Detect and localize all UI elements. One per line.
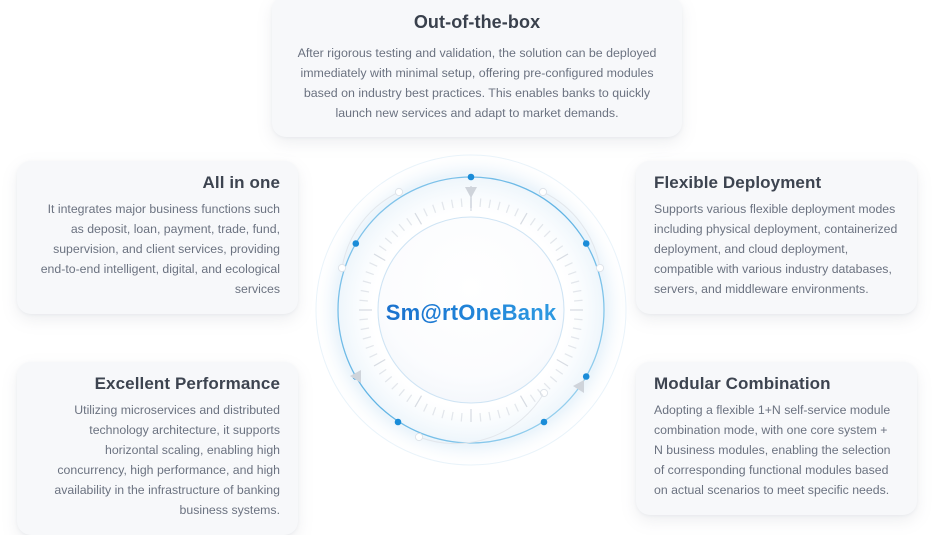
- brand-label: Sm@rtOneBank: [311, 300, 631, 326]
- arc-endpoint-marker: [540, 389, 547, 396]
- ring-dot: [395, 419, 402, 426]
- card-title: Out-of-the-box: [294, 12, 660, 34]
- tick-mark: [480, 198, 481, 206]
- card-title: Modular Combination: [654, 374, 899, 394]
- card-title: Flexible Deployment: [654, 173, 899, 193]
- arc-endpoint-marker: [415, 433, 422, 440]
- card-description: It integrates major business functions s…: [35, 200, 280, 300]
- arc-endpoint-marker: [596, 264, 603, 271]
- feature-card-all-in-one[interactable]: All in one It integrates major business …: [17, 161, 298, 314]
- arc-endpoint-marker: [539, 188, 546, 195]
- central-circular-graphic: Sm@rtOneBank: [311, 150, 631, 470]
- feature-card-out-of-the-box[interactable]: Out-of-the-box After rigorous testing an…: [272, 0, 682, 137]
- tick-mark: [461, 198, 462, 206]
- card-description: Adopting a flexible 1+N self-service mod…: [654, 401, 899, 501]
- feature-card-modular-combination[interactable]: Modular Combination Adopting a flexible …: [636, 362, 917, 515]
- tick-mark: [461, 413, 462, 421]
- infographic-stage: Out-of-the-box After rigorous testing an…: [0, 0, 941, 500]
- tick-mark: [480, 413, 481, 421]
- ring-dot: [468, 174, 475, 181]
- ring-dot: [353, 240, 360, 247]
- arc-endpoint-marker: [395, 188, 402, 195]
- feature-card-excellent-performance[interactable]: Excellent Performance Utilizing microser…: [17, 362, 298, 535]
- ring-dot: [541, 419, 548, 426]
- card-description: Supports various flexible deployment mod…: [654, 200, 899, 300]
- feature-card-flexible-deployment[interactable]: Flexible Deployment Supports various fle…: [636, 161, 917, 314]
- arc-endpoint-marker: [338, 264, 345, 271]
- ring-dot: [583, 373, 590, 380]
- card-description: Utilizing microservices and distributed …: [35, 401, 280, 520]
- card-description: After rigorous testing and validation, t…: [294, 43, 660, 124]
- card-title: Excellent Performance: [35, 374, 280, 394]
- card-title: All in one: [35, 173, 280, 193]
- ring-dot: [583, 240, 590, 247]
